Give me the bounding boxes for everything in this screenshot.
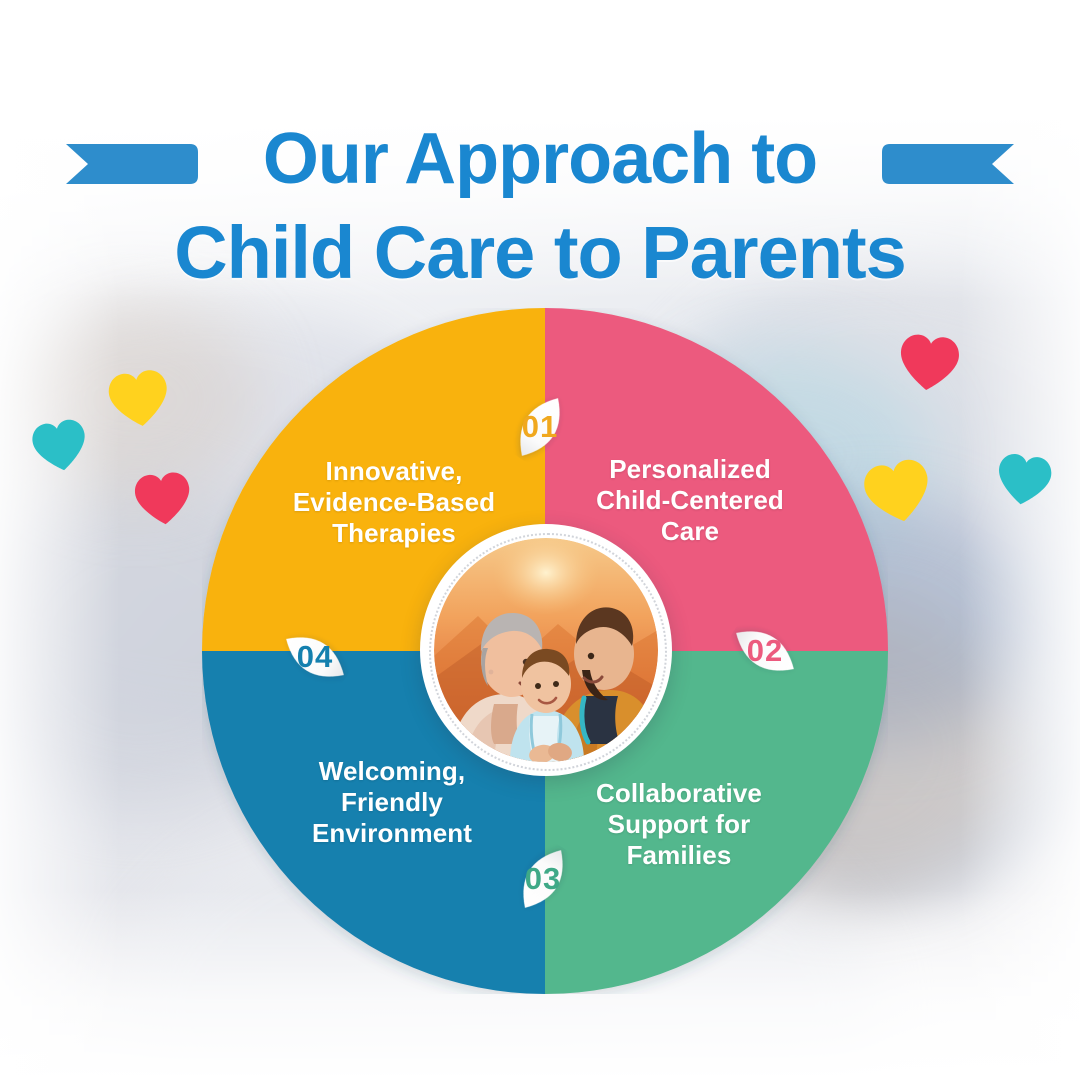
heart-yellow-left (104, 364, 174, 434)
ribbon-right-icon (882, 142, 1014, 186)
page-title: Our Approach to Child Care to Parents (0, 120, 1080, 294)
wheel-badge-03-number: 03 (525, 861, 561, 897)
heart-red-left (131, 467, 195, 531)
ribbon-left-icon (66, 142, 198, 186)
wheel-badge-02[interactable]: 02 (728, 614, 802, 688)
center-photo-dotted-ring (429, 533, 667, 771)
approach-wheel: Innovative, Evidence-Based Therapies Per… (202, 308, 888, 994)
infographic-canvas: Our Approach to Child Care to Parents (0, 0, 1080, 1080)
wheel-badge-01[interactable]: 01 (503, 390, 577, 464)
wheel-badge-03[interactable]: 03 (506, 842, 580, 916)
heart-teal-left (28, 414, 93, 479)
wheel-badge-04-number: 04 (297, 639, 333, 675)
wheel-badge-02-number: 02 (747, 633, 783, 669)
wheel-badge-01-number: 01 (522, 409, 558, 445)
center-photo-frame (420, 524, 672, 776)
heart-teal-right (992, 448, 1055, 511)
title-line-2: Child Care to Parents (0, 212, 1080, 294)
wheel-badge-04[interactable]: 04 (278, 620, 352, 694)
heart-red-right (895, 329, 963, 397)
